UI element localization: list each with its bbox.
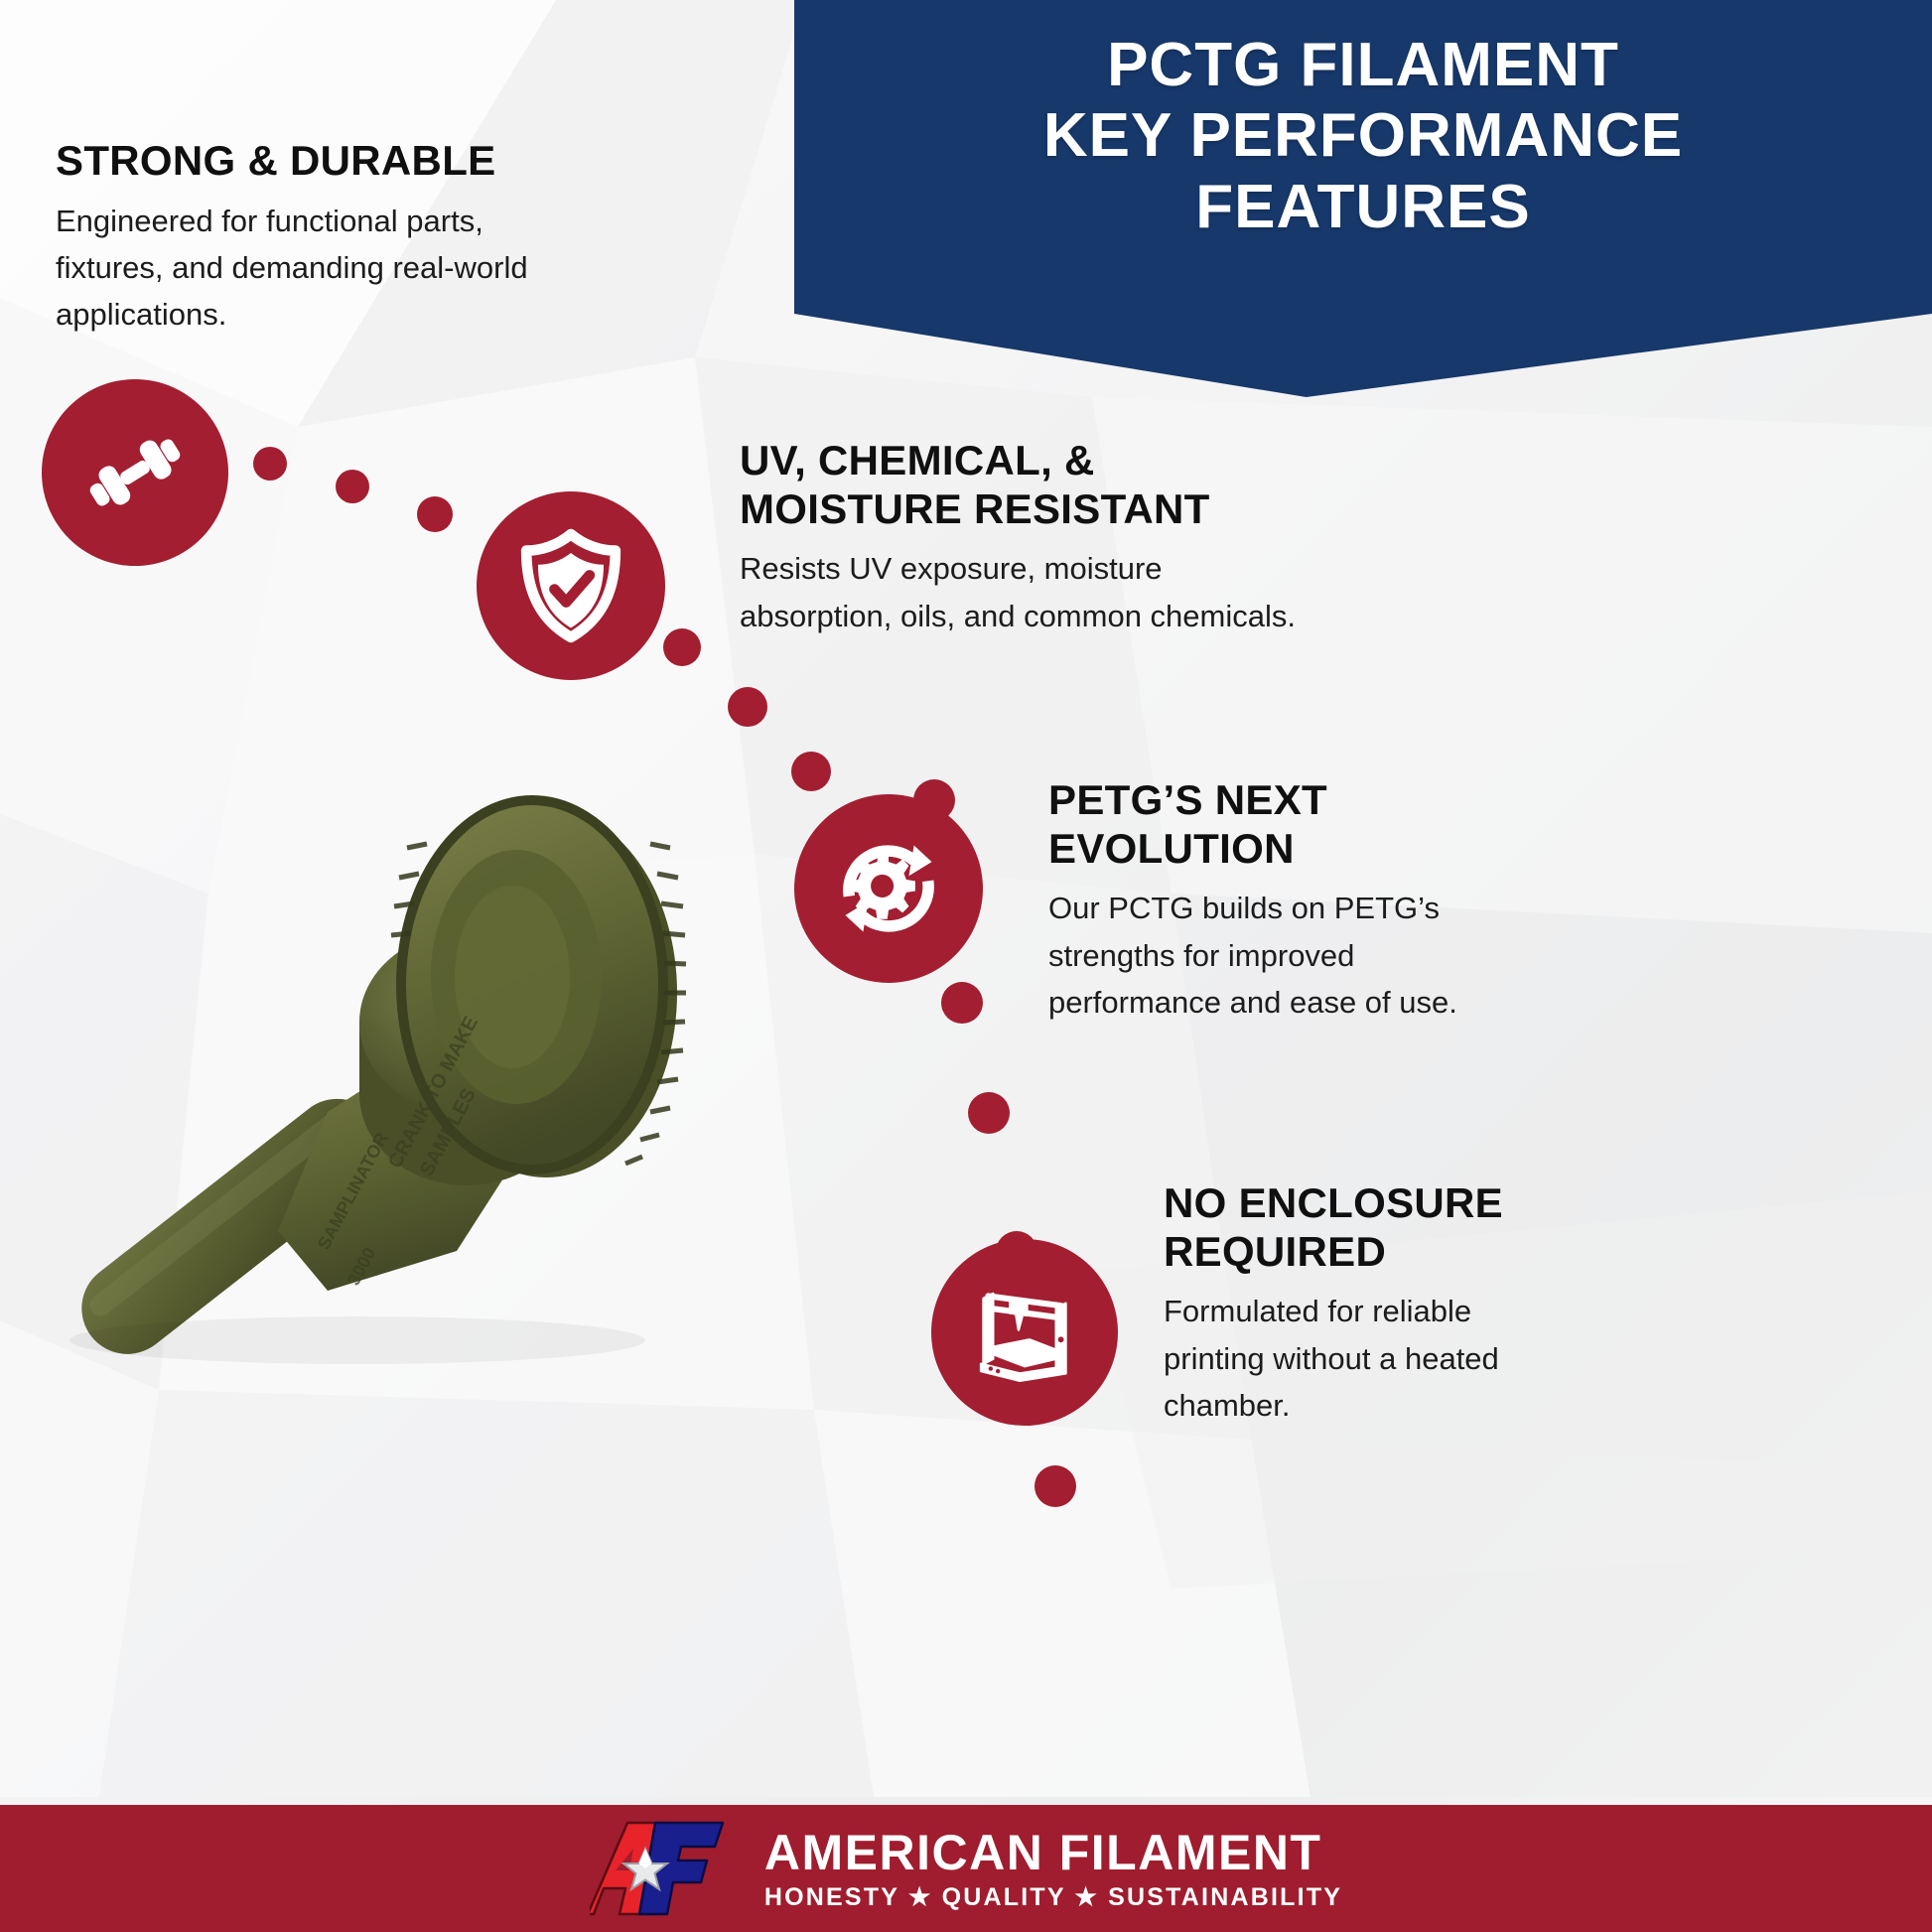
connector-dot: [663, 628, 701, 666]
footer-bar: AMERICAN FILAMENT HONESTY ★ QUALITY ★ SU…: [0, 1805, 1932, 1932]
connector-dot: [417, 496, 453, 532]
feature-body: Engineered for functional parts, fixture…: [56, 198, 582, 338]
feature-body: Resists UV exposure, moisture absorption…: [740, 545, 1315, 638]
feature-block-strong-durable: STRONG & DURABLE Engineered for function…: [56, 137, 582, 338]
feature-title: PETG’S NEXT EVOLUTION: [1048, 776, 1475, 873]
american-filament-logo-icon: [590, 1815, 739, 1922]
feature-block-uv-resistant: UV, CHEMICAL, & MOISTURE RESISTANT Resis…: [740, 437, 1315, 639]
feature-body: Formulated for reliable printing without…: [1164, 1288, 1581, 1428]
connector-dot: [253, 447, 287, 481]
feature-title: UV, CHEMICAL, & MOISTURE RESISTANT: [740, 437, 1315, 533]
feature-block-no-enclosure: NO ENCLOSURE REQUIRED Formulated for rel…: [1164, 1179, 1581, 1429]
gear-refresh-icon: [794, 794, 983, 983]
feature-title: STRONG & DURABLE: [56, 137, 582, 186]
shield-check-icon: [477, 491, 665, 680]
connector-dot: [1035, 1465, 1076, 1507]
infographic-canvas: PCTG FILAMENT KEY PERFORMANCE FEATURES S…: [0, 0, 1932, 1932]
brand-tagline: HONESTY ★ QUALITY ★ SUSTAINABILITY: [764, 1885, 1342, 1910]
feature-block-petg-evolution: PETG’S NEXT EVOLUTION Our PCTG builds on…: [1048, 776, 1475, 1026]
feature-title: NO ENCLOSURE REQUIRED: [1164, 1179, 1581, 1276]
brand-name: AMERICAN FILAMENT: [764, 1828, 1342, 1877]
connector-dot: [968, 1092, 1010, 1134]
dumbbell-icon: [42, 379, 228, 566]
product-photo-3d-printed-crank: CRANK TO MAKE SAMPLES SAMPLINATOR 3000: [30, 695, 804, 1370]
connector-dot: [941, 982, 983, 1024]
feature-body: Our PCTG builds on PETG’s strengths for …: [1048, 885, 1475, 1025]
connector-dot: [336, 470, 369, 503]
footer-brand-text: AMERICAN FILAMENT HONESTY ★ QUALITY ★ SU…: [764, 1828, 1342, 1910]
3d-printer-icon: [931, 1239, 1118, 1426]
page-title: PCTG FILAMENT KEY PERFORMANCE FEATURES: [1043, 30, 1683, 242]
